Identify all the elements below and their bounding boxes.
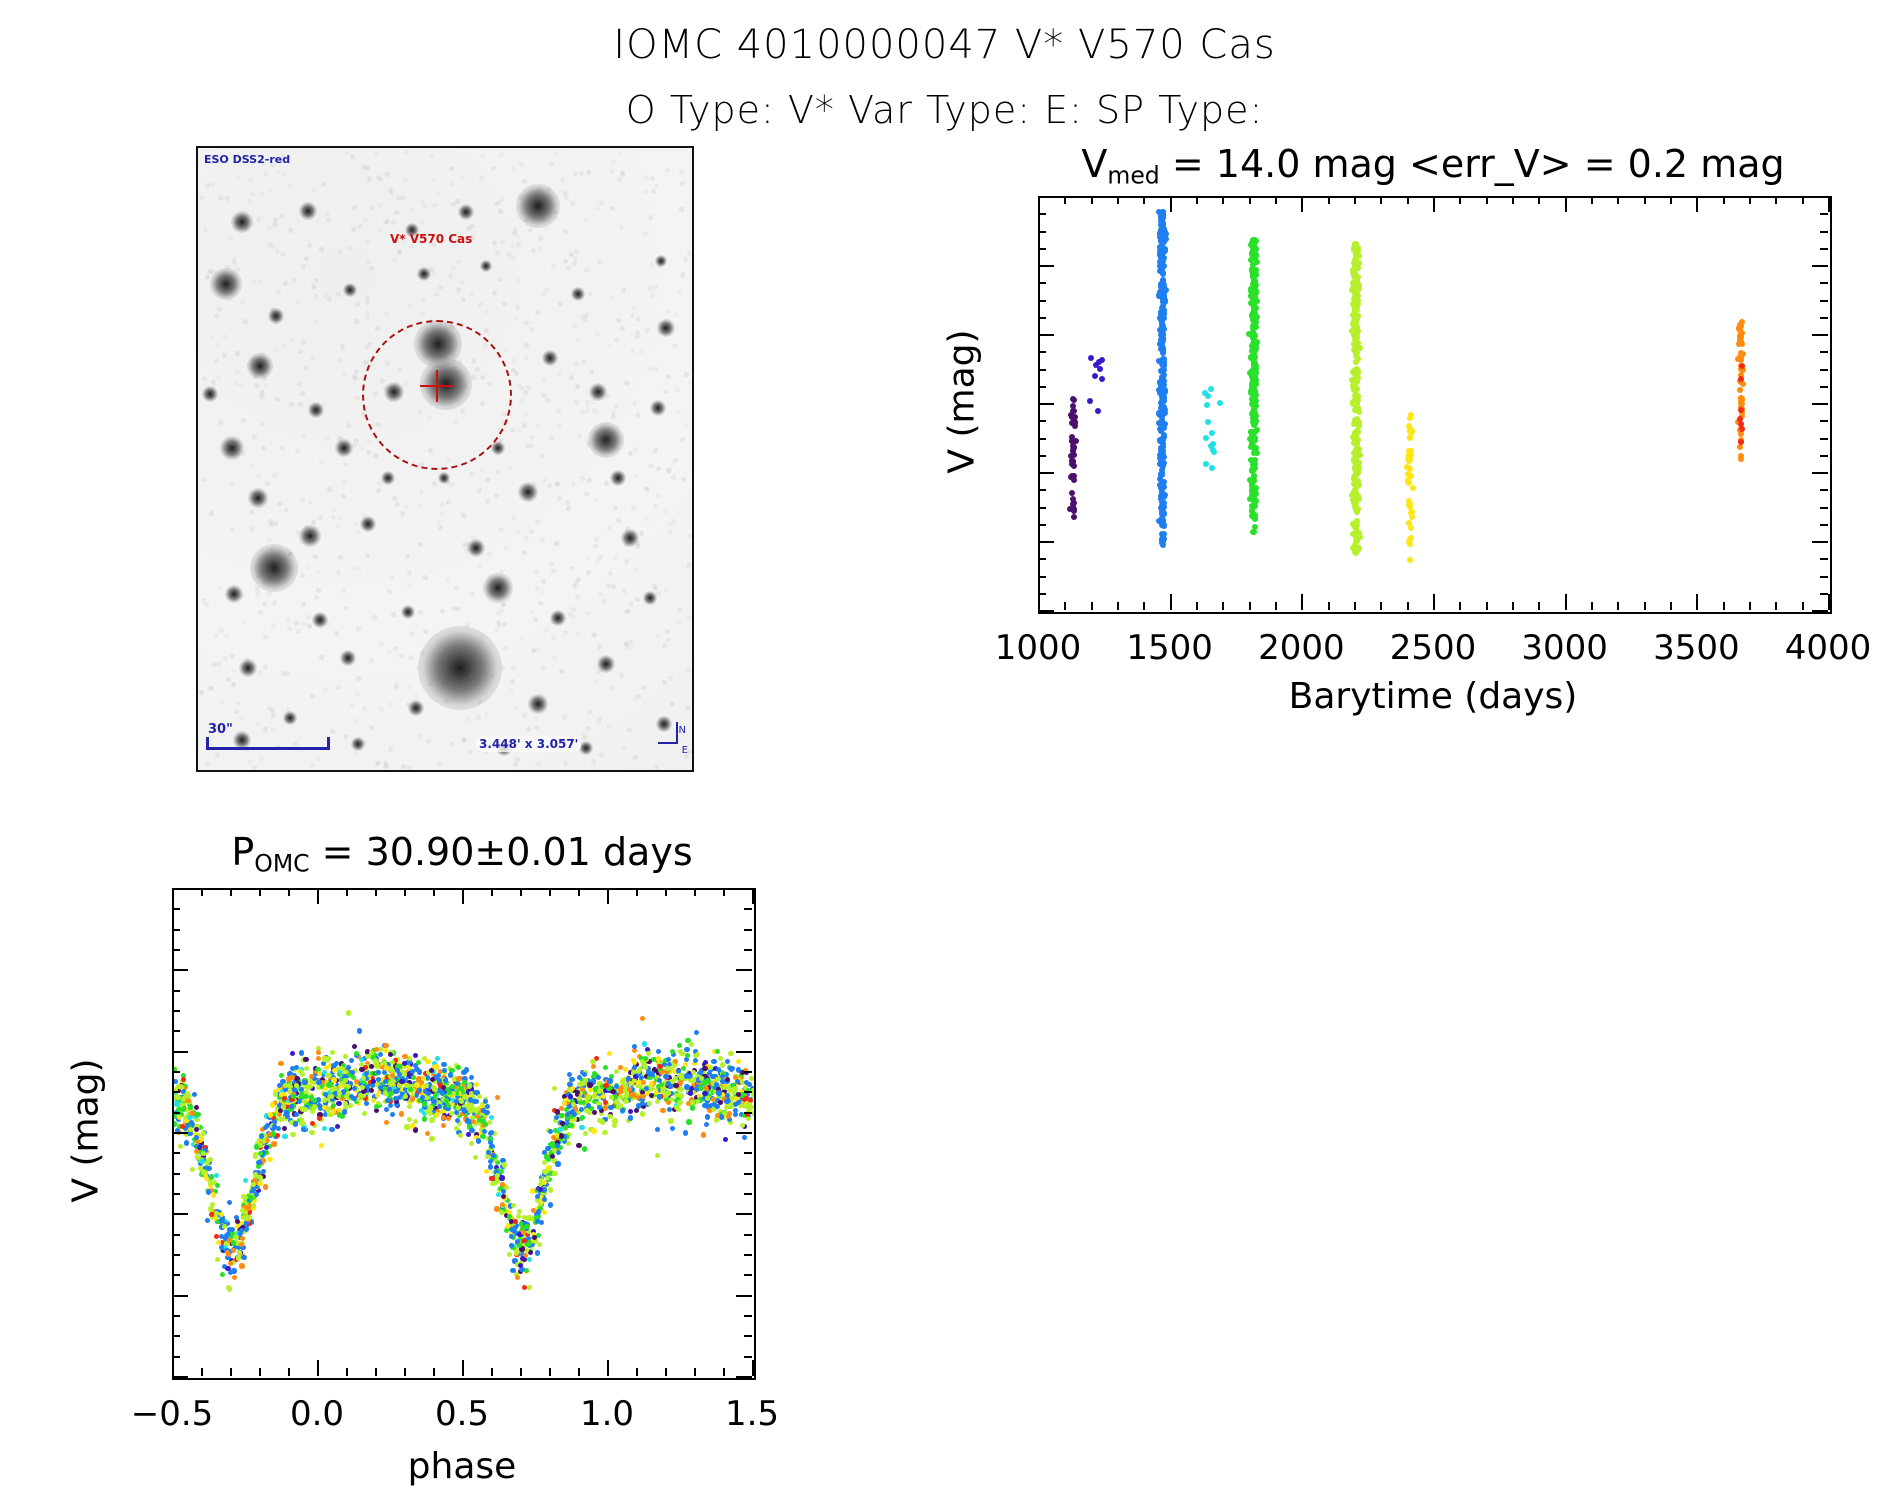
sky-noise: [614, 404, 619, 409]
sky-noise: [560, 178, 565, 183]
sky-noise: [535, 586, 540, 591]
sky-noise: [337, 436, 342, 441]
data-point: [1406, 458, 1412, 464]
sky-noise: [496, 470, 501, 475]
sky-noise: [384, 763, 389, 768]
sky-noise: [503, 646, 508, 651]
sky-noise: [231, 668, 236, 673]
sky-noise: [355, 691, 360, 696]
data-point: [1097, 366, 1103, 372]
sky-noise: [391, 220, 396, 225]
sky-noise: [483, 672, 488, 677]
data-point: [628, 1109, 633, 1114]
x-minor-tick: [1143, 196, 1145, 204]
y-minor-tick: [172, 1335, 180, 1337]
sky-noise: [535, 647, 540, 652]
sky-noise: [214, 633, 219, 638]
sky-noise: [648, 286, 653, 291]
data-point: [1099, 376, 1105, 382]
data-point: [187, 1115, 192, 1120]
sky-noise: [630, 645, 635, 650]
sky-noise: [298, 349, 303, 354]
data-point: [666, 1100, 671, 1105]
data-point: [728, 1051, 733, 1056]
sky-noise: [236, 175, 241, 180]
sky-noise: [373, 453, 378, 458]
y-major-tick: [1812, 196, 1828, 198]
sky-noise: [388, 702, 393, 707]
sky-noise: [376, 760, 381, 765]
data-point: [684, 1084, 689, 1089]
sky-noise: [376, 488, 381, 493]
data-point: [1252, 284, 1258, 290]
x-major-tick: [462, 888, 464, 904]
sky-noise: [276, 169, 281, 174]
data-point: [655, 1153, 660, 1158]
scale-bar-tick-left: [206, 737, 209, 750]
sky-noise: [307, 624, 312, 629]
y-minor-tick: [172, 929, 180, 931]
data-point: [694, 1030, 699, 1035]
data-point: [407, 1117, 412, 1122]
data-point: [375, 1093, 380, 1098]
y-major-tick: [1812, 265, 1828, 267]
data-point: [632, 1044, 637, 1049]
data-point: [310, 1121, 315, 1126]
data-point: [567, 1072, 572, 1077]
sky-noise: [338, 249, 343, 254]
sky-noise: [541, 579, 546, 584]
sky-noise: [218, 195, 223, 200]
sky-noise: [199, 196, 204, 201]
data-point: [461, 1070, 466, 1075]
data-point: [666, 1081, 671, 1086]
sky-noise: [419, 490, 424, 495]
sky-noise: [480, 467, 485, 472]
sky-noise: [313, 554, 318, 559]
x-minor-tick: [1407, 602, 1409, 610]
period-eq: =: [322, 830, 366, 874]
data-point: [1355, 506, 1361, 512]
sky-noise: [338, 555, 343, 560]
data-point: [231, 1268, 236, 1273]
x-tick-label: 1.5: [725, 1394, 779, 1434]
sky-noise: [494, 628, 499, 633]
sky-noise: [577, 434, 582, 439]
x-axis-title: phase: [408, 1446, 517, 1487]
sky-noise: [645, 328, 650, 333]
sky-noise: [250, 464, 255, 469]
sky-noise: [355, 302, 360, 307]
data-point: [532, 1235, 537, 1240]
data-point: [302, 1094, 307, 1099]
sky-noise: [307, 531, 312, 536]
y-minor-tick: [172, 1071, 180, 1073]
sky-noise: [260, 351, 265, 356]
data-point: [1738, 376, 1744, 382]
sky-noise: [542, 478, 547, 483]
data-point: [584, 1108, 589, 1113]
sky-noise: [256, 473, 261, 478]
sky-noise: [503, 348, 508, 353]
vmed-unit: mag: [1312, 142, 1396, 186]
data-point: [635, 1095, 640, 1100]
data-point: [1738, 456, 1744, 462]
y-major-tick: [1038, 265, 1054, 267]
sky-noise: [591, 759, 596, 764]
sky-noise: [335, 524, 340, 529]
y-major-tick: [1038, 610, 1054, 612]
x-minor-tick: [433, 888, 435, 896]
x-minor-tick: [723, 888, 725, 896]
sky-noise: [243, 319, 248, 324]
y-major-tick: [172, 1051, 188, 1053]
data-point: [1254, 450, 1260, 456]
data-point: [1158, 368, 1164, 374]
sky-noise: [570, 201, 575, 206]
y-minor-tick: [1038, 282, 1046, 284]
data-point: [733, 1087, 738, 1092]
field-of-view-label: 3.448' x 3.057': [476, 736, 581, 752]
data-point: [407, 1104, 412, 1109]
data-point: [215, 1257, 220, 1262]
data-point: [685, 1053, 690, 1058]
sky-noise: [304, 525, 309, 530]
sky-noise: [559, 669, 564, 674]
data-point: [185, 1098, 190, 1103]
sky-noise: [275, 397, 280, 402]
sky-noise: [321, 182, 326, 187]
data-point: [393, 1096, 398, 1101]
x-minor-tick: [1775, 196, 1777, 204]
data-point: [1250, 410, 1256, 416]
sky-noise: [511, 516, 516, 521]
y-minor-tick: [744, 1071, 752, 1073]
data-point: [690, 1100, 695, 1105]
sky-noise: [284, 508, 289, 513]
sky-noise: [635, 317, 640, 322]
sky-noise: [631, 305, 636, 310]
sky-noise: [364, 345, 369, 350]
orientation-label-north: N: [679, 725, 686, 736]
sky-noise: [274, 320, 279, 325]
x-major-tick: [1565, 594, 1567, 610]
sky-noise: [680, 181, 685, 186]
sky-noise: [423, 629, 428, 634]
data-point: [684, 1047, 689, 1052]
sky-noise: [429, 154, 434, 159]
sky-noise: [378, 481, 383, 486]
sky-noise: [534, 725, 539, 730]
data-point: [281, 1104, 286, 1109]
x-axis-title: Barytime (days): [1289, 676, 1578, 717]
scale-bar: [206, 747, 330, 750]
x-minor-tick: [1749, 196, 1751, 204]
data-point: [174, 1079, 178, 1084]
sky-noise: [609, 685, 614, 690]
sky-noise: [588, 292, 593, 297]
data-point: [329, 1127, 334, 1132]
sky-noise: [295, 449, 300, 454]
data-point: [270, 1102, 275, 1107]
sky-noise: [205, 183, 210, 188]
data-point: [530, 1188, 535, 1193]
sky-noise: [387, 649, 392, 654]
data-point: [388, 1052, 393, 1057]
data-point: [1354, 463, 1360, 469]
sky-noise: [500, 197, 505, 202]
data-point: [331, 1077, 336, 1082]
sky-noise: [252, 435, 257, 440]
x-major-tick: [317, 888, 319, 904]
y-minor-tick: [744, 929, 752, 931]
x-major-tick: [1433, 594, 1435, 610]
x-minor-tick: [1802, 602, 1804, 610]
sky-noise: [469, 291, 474, 296]
sky-noise: [517, 383, 522, 388]
data-point: [290, 1132, 295, 1137]
sky-noise: [599, 752, 604, 757]
data-point: [1070, 501, 1076, 507]
sky-noise: [422, 204, 427, 209]
data-point: [271, 1131, 276, 1136]
sky-noise: [316, 588, 321, 593]
x-minor-tick: [1486, 196, 1488, 204]
data-point: [444, 1098, 449, 1103]
data-point: [300, 1106, 305, 1111]
sky-noise: [598, 555, 603, 560]
sky-noise: [594, 537, 599, 542]
data-point: [591, 1128, 596, 1133]
data-point: [582, 1072, 587, 1077]
data-point: [642, 1041, 647, 1046]
y-minor-tick: [744, 1356, 752, 1358]
sky-noise: [656, 493, 661, 498]
data-point: [263, 1184, 268, 1189]
sky-noise: [306, 615, 311, 620]
sky-noise: [353, 522, 358, 527]
sky-noise: [687, 616, 692, 621]
sky-noise: [610, 206, 615, 211]
target-name-label: V* V570 Cas: [390, 232, 472, 246]
sky-noise: [449, 742, 454, 747]
sky-noise: [665, 629, 670, 634]
data-point: [648, 1072, 653, 1077]
sky-noise: [366, 259, 371, 264]
data-point: [272, 1119, 277, 1124]
sky-noise: [497, 277, 502, 282]
sky-noise: [524, 355, 529, 360]
sky-noise: [217, 662, 222, 667]
data-point: [640, 1016, 645, 1021]
y-minor-tick: [744, 1234, 752, 1236]
sky-noise: [595, 332, 600, 337]
data-point: [294, 1076, 299, 1081]
y-minor-tick: [1820, 369, 1828, 371]
sky-noise: [589, 370, 594, 375]
data-point: [511, 1203, 516, 1208]
data-point: [390, 1060, 395, 1065]
sky-noise: [680, 437, 685, 442]
sky-noise: [311, 520, 316, 525]
y-minor-tick: [1038, 507, 1046, 509]
data-point: [354, 1051, 359, 1056]
sky-noise: [210, 182, 215, 187]
sky-noise: [301, 602, 306, 607]
y-major-tick: [1038, 403, 1054, 405]
sky-noise: [478, 302, 483, 307]
data-point: [535, 1250, 540, 1255]
sky-noise: [571, 482, 576, 487]
data-point: [678, 1087, 683, 1092]
sky-noise: [540, 538, 545, 543]
data-point: [1352, 481, 1358, 487]
star: [528, 694, 548, 714]
data-point: [1252, 403, 1258, 409]
sky-noise: [617, 150, 622, 155]
x-tick-label: 3000: [1521, 628, 1608, 668]
sky-noise: [616, 518, 621, 523]
sky-noise: [627, 727, 632, 732]
data-point: [343, 1101, 348, 1106]
sky-noise: [619, 225, 624, 230]
sky-noise: [510, 244, 515, 249]
sky-noise: [416, 665, 421, 670]
sky-noise: [301, 264, 306, 269]
sky-noise: [597, 259, 602, 264]
y-minor-tick: [1820, 317, 1828, 319]
sky-noise: [354, 319, 359, 324]
y-minor-tick: [744, 1030, 752, 1032]
sky-noise: [490, 673, 495, 678]
data-point: [349, 1058, 354, 1063]
y-minor-tick: [744, 1152, 752, 1154]
data-point: [365, 1054, 370, 1059]
data-point: [624, 1093, 629, 1098]
data-point: [1353, 391, 1359, 397]
sky-noise: [573, 171, 578, 176]
data-point: [543, 1170, 548, 1175]
data-point: [290, 1066, 295, 1071]
sky-noise: [255, 588, 260, 593]
data-points-layer: [174, 890, 754, 1378]
sky-noise: [311, 284, 316, 289]
sky-noise: [316, 757, 321, 762]
data-point: [484, 1169, 489, 1174]
data-point: [431, 1099, 436, 1104]
x-minor-tick: [520, 888, 522, 896]
sky-noise: [301, 340, 306, 345]
sky-noise: [301, 433, 306, 438]
sky-noise: [432, 270, 437, 275]
y-minor-tick: [1820, 300, 1828, 302]
data-point: [443, 1078, 448, 1083]
data-point: [1253, 272, 1259, 278]
data-point: [385, 1098, 390, 1103]
sky-noise: [667, 522, 672, 527]
sky-noise: [460, 280, 465, 285]
data-point: [640, 1111, 645, 1116]
sky-noise: [365, 315, 370, 320]
data-point: [600, 1119, 605, 1124]
sky-noise: [502, 622, 507, 627]
sky-noise: [365, 239, 370, 244]
data-point: [228, 1261, 233, 1266]
data-point: [388, 1066, 393, 1071]
sky-noise: [572, 324, 577, 329]
y-minor-tick: [1820, 231, 1828, 233]
sky-noise: [686, 563, 691, 568]
data-point: [1252, 465, 1258, 471]
y-major-tick: [736, 1376, 752, 1378]
data-point: [632, 1060, 637, 1065]
data-point: [1739, 341, 1745, 347]
data-point: [1352, 492, 1358, 498]
data-point: [660, 1108, 665, 1113]
sky-noise: [635, 334, 640, 339]
data-point: [587, 1082, 592, 1087]
x-tick-label: 2500: [1390, 628, 1477, 668]
x-minor-tick: [1617, 602, 1619, 610]
sky-noise: [591, 399, 596, 404]
sky-noise: [300, 573, 305, 578]
data-point: [583, 1078, 588, 1083]
data-point: [656, 1049, 661, 1054]
data-point: [502, 1162, 507, 1167]
sky-noise: [202, 376, 207, 381]
data-point: [459, 1099, 464, 1104]
sky-noise: [223, 656, 228, 661]
sky-noise: [609, 295, 614, 300]
sky-noise: [462, 738, 467, 743]
y-major-tick: [736, 1213, 752, 1215]
sky-noise: [272, 473, 277, 478]
sky-noise: [231, 257, 236, 262]
sky-noise: [498, 438, 503, 443]
data-point: [279, 1073, 284, 1078]
data-point: [702, 1066, 707, 1071]
sky-noise: [464, 548, 469, 553]
data-point: [548, 1202, 553, 1207]
sky-noise: [369, 725, 374, 730]
data-point: [278, 1117, 283, 1122]
sky-noise: [621, 288, 626, 293]
sky-noise: [205, 761, 210, 766]
data-point: [1407, 536, 1413, 542]
sky-noise: [456, 259, 461, 264]
data-point: [205, 1218, 210, 1223]
data-point: [1735, 356, 1741, 362]
sky-noise: [687, 749, 692, 754]
sky-noise: [374, 152, 379, 157]
data-point: [1408, 473, 1414, 479]
data-point: [677, 1101, 682, 1106]
data-point: [691, 1077, 696, 1082]
sky-noise: [214, 314, 219, 319]
data-point: [663, 1074, 668, 1079]
sky-noise: [377, 228, 382, 233]
data-point: [527, 1240, 532, 1245]
y-minor-tick: [1038, 558, 1046, 560]
y-minor-tick: [1038, 248, 1046, 250]
sky-noise: [650, 293, 655, 298]
y-minor-tick: [1038, 351, 1046, 353]
vmed-eq: =: [1172, 142, 1216, 186]
sky-noise: [258, 610, 263, 615]
sky-noise: [388, 747, 393, 752]
sky-noise: [403, 178, 408, 183]
sky-noise: [663, 389, 668, 394]
